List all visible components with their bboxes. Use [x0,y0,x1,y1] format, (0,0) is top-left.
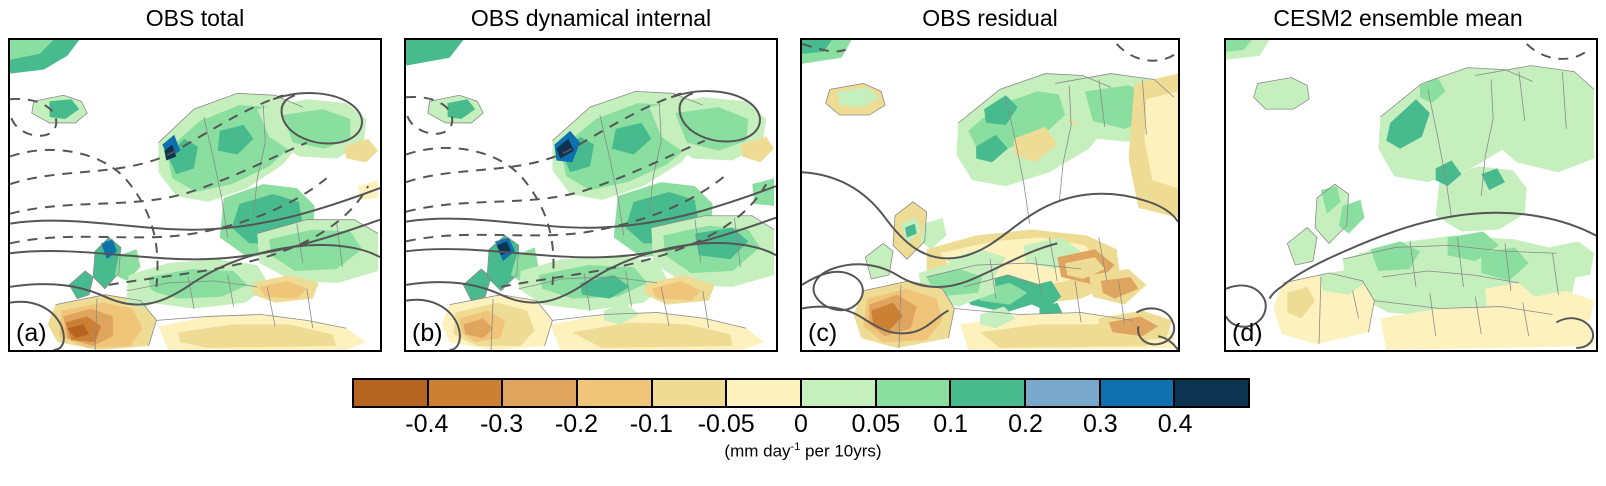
colorbar-tick-labels: -0.4-0.3-0.2-0.1-0.0500.050.10.20.30.4 [352,410,1250,440]
panel-title-a: OBS total [8,4,382,32]
units-suffix: per 10yrs) [800,442,881,461]
colorbar-tick-3: -0.1 [630,410,673,439]
colorbar-units-label: (mm day-1 per 10yrs) [0,441,1606,462]
map-b-svg [406,40,776,350]
colorbar-segment-3 [578,380,653,406]
units-prefix: (mm day [724,442,790,461]
colorbar-tick-0: -0.4 [405,410,448,439]
colorbar [352,378,1250,408]
map-panel-a[interactable]: (a) [8,38,382,352]
panel-title-b: OBS dynamical internal [404,4,778,32]
colorbar-tick-4: -0.05 [698,410,755,439]
colorbar-tick-6: 0.05 [851,410,900,439]
map-panel-c[interactable]: (c) [800,38,1180,352]
units-exponent: -1 [791,441,801,453]
panel-title-d: CESM2 ensemble mean [1198,4,1598,32]
map-panel-d[interactable]: (d) [1224,38,1598,352]
panel-title-c: OBS residual [800,4,1180,32]
colorbar-tick-8: 0.2 [1008,410,1043,439]
map-c-svg [802,40,1178,350]
map-panel-b[interactable]: (b) [404,38,778,352]
colorbar-tick-10: 0.4 [1158,410,1193,439]
colorbar-segment-0 [354,380,429,406]
colorbar-segment-6 [802,380,877,406]
map-a-svg [10,40,380,350]
panel-tag-d: (d) [1232,319,1263,348]
map-d-svg [1226,40,1596,350]
panel-tag-c: (c) [808,319,837,348]
colorbar-tick-5: 0 [794,410,808,439]
colorbar-segment-10 [1101,380,1176,406]
colorbar-segment-9 [1026,380,1101,406]
colorbar-segment-2 [503,380,578,406]
figure-root: OBS total [0,0,1606,486]
colorbar-segment-5 [727,380,802,406]
colorbar-tick-1: -0.3 [480,410,523,439]
panel-tag-b: (b) [412,319,443,348]
colorbar-segment-11 [1175,380,1248,406]
colorbar-segments [352,378,1250,408]
colorbar-segment-4 [653,380,728,406]
colorbar-tick-9: 0.3 [1083,410,1118,439]
colorbar-tick-7: 0.1 [933,410,968,439]
colorbar-segment-7 [877,380,952,406]
colorbar-segment-1 [429,380,504,406]
colorbar-tick-2: -0.2 [555,410,598,439]
colorbar-segment-8 [951,380,1026,406]
panel-tag-a: (a) [16,319,47,348]
